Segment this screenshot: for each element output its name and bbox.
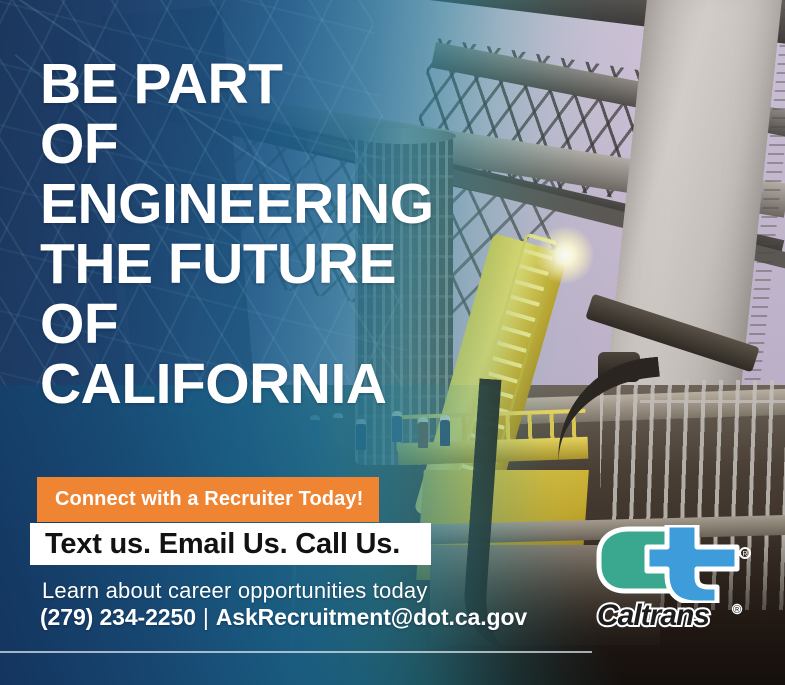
learn-more-text: Learn about career opportunities today [42,578,428,604]
phone-number[interactable]: (279) 234-2250 [40,604,196,630]
svg-text:R: R [742,551,747,558]
contact-line: (279) 234-2250|AskRecruitment@dot.ca.gov [40,604,527,631]
headline: BE PART OF ENGINEERING THE FUTURE OF CAL… [40,54,434,414]
email-address[interactable]: AskRecruitment@dot.ca.gov [216,604,527,630]
recruitment-banner: BE PART OF ENGINEERING THE FUTURE OF CAL… [0,0,785,685]
caltrans-ct-mark-icon: R [585,525,760,603]
divider-rule [0,651,592,653]
contact-methods-bar: Text us. Email Us. Call Us. [30,523,431,565]
banner-content: BE PART OF ENGINEERING THE FUTURE OF CAL… [0,0,785,685]
caltrans-wordmark-text: Caltrans [597,599,709,632]
contact-methods-label: Text us. Email Us. Call Us. [30,528,400,561]
caltrans-wordmark: Caltrans ® [593,595,753,635]
contact-separator: | [196,604,216,630]
caltrans-logo[interactable]: R Caltrans ® [585,525,760,645]
registered-mark: ® [733,604,741,616]
recruiter-cta-label: Connect with a Recruiter Today! [37,488,363,511]
recruiter-cta-bar[interactable]: Connect with a Recruiter Today! [37,477,379,522]
